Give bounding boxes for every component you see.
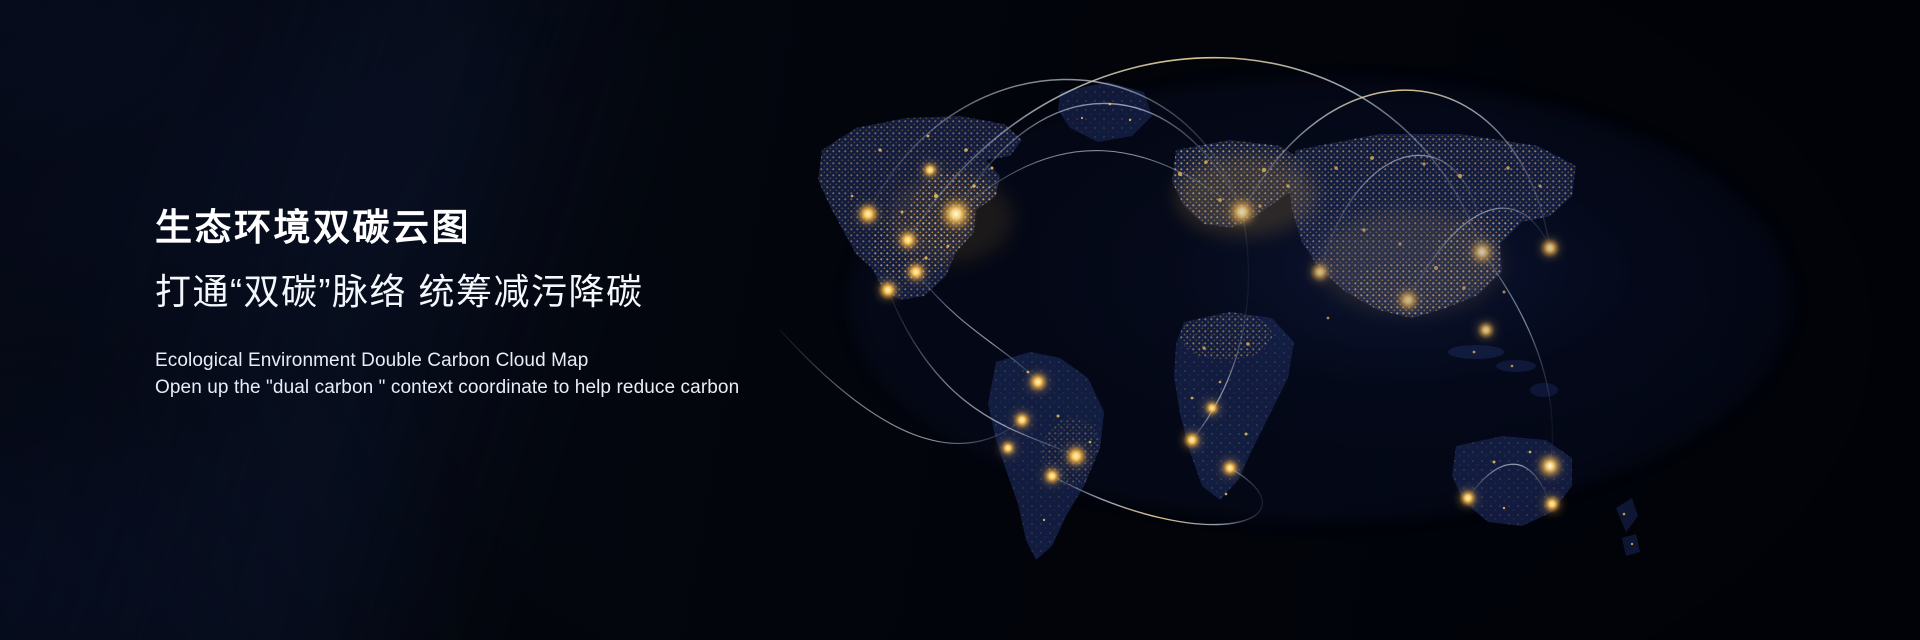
english-subtitle-block: Ecological Environment Double Carbon Clo…	[155, 347, 915, 402]
world-night-lights-map	[760, 0, 1920, 640]
english-subtitle-line-1: Ecological Environment Double Carbon Clo…	[155, 347, 915, 375]
page-subtitle: 打通“双碳”脉络 统筹减污降碳	[155, 270, 915, 314]
hero-text-block: 生态环境双碳云图 打通“双碳”脉络 统筹减污降碳 Ecological Envi…	[155, 206, 915, 402]
english-subtitle-line-2: Open up the "dual carbon " context coord…	[155, 374, 915, 402]
page-title: 生态环境双碳云图	[155, 206, 915, 250]
continent-new-zealand	[1616, 498, 1640, 556]
hero-banner: 生态环境双碳云图 打通“双碳”脉络 统筹减污降碳 Ecological Envi…	[0, 0, 1920, 640]
